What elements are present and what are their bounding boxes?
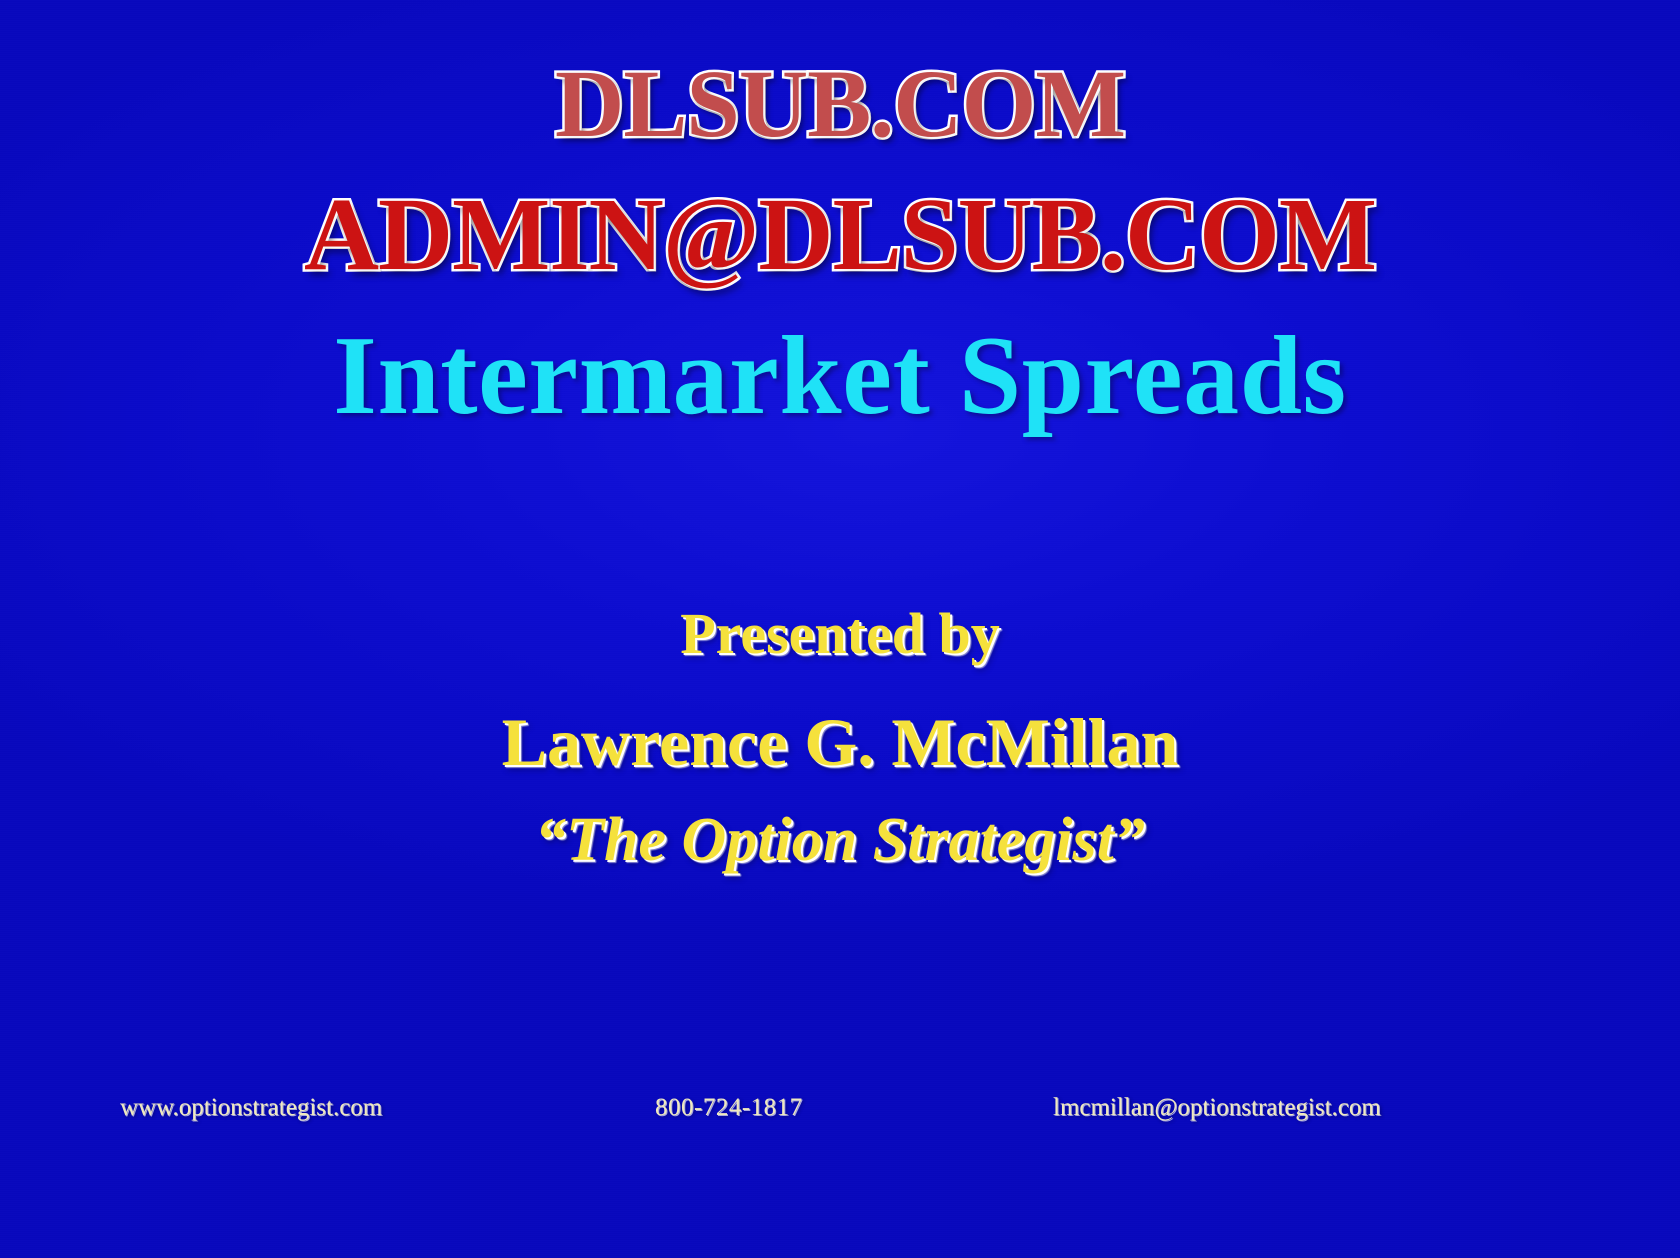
presenter-tagline: “The Option Strategist” xyxy=(0,805,1680,876)
footer-email-address: lmcmillan@optionstrategist.com xyxy=(1053,1094,1381,1122)
watermark-line-2-text: ADMIN@DLSUB.COM xyxy=(304,177,1376,292)
watermark-line-1-text: DLSUB.COM xyxy=(555,50,1125,157)
slide-footer: www.optionstrategist.com 800-724-1817 lm… xyxy=(0,1094,1680,1134)
watermark-dlsub-domain: DLSUB.COM xyxy=(0,56,1680,152)
presentation-slide: DLSUB.COM ADMIN@DLSUB.COM Intermarket Sp… xyxy=(0,0,1680,1258)
slide-title: Intermarket Spreads xyxy=(0,318,1680,436)
watermark-dlsub-email: ADMIN@DLSUB.COM xyxy=(0,183,1680,287)
footer-phone-number: 800-724-1817 xyxy=(655,1094,803,1122)
presenter-name: Lawrence G. McMillan xyxy=(0,703,1680,782)
presented-by-label: Presented by xyxy=(0,600,1680,667)
footer-website: www.optionstrategist.com xyxy=(120,1094,382,1122)
